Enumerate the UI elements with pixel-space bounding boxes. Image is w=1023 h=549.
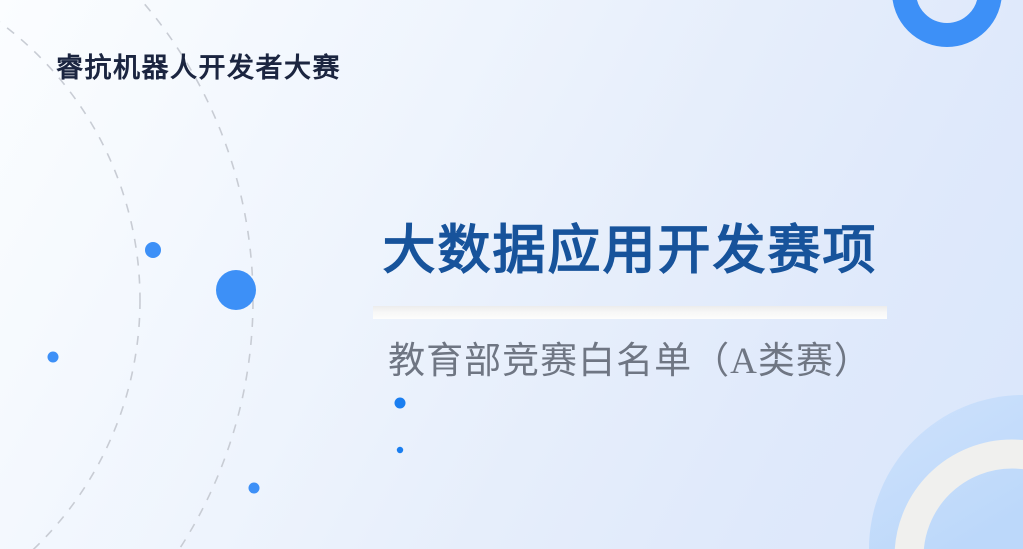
hero-main-title: 大数据应用开发赛项 [373,223,887,280]
accent-dot-arc-bottom [249,483,260,494]
title-divider-bar [373,306,887,319]
accent-dot-bullet-lower [397,447,403,453]
accent-dot-large [216,270,256,310]
accent-dot-arc-left [48,352,59,363]
accent-dot-bullet-upper [395,398,406,409]
top-right-ring [904,0,990,35]
hero-block: 大数据应用开发赛项 教育部竞赛白名单（A类赛） [373,223,887,280]
corner-ring-arc [909,454,1023,549]
accent-dot-small-upper [145,242,161,258]
hero-subtitle: 教育部竞赛白名单（A类赛） [373,330,887,384]
page-title: 睿抗机器人开发者大赛 [56,46,341,85]
corner-panel-shape [869,395,1023,549]
presentation-slide: 睿抗机器人开发者大赛 大数据应用开发赛项 教育部竞赛白名单（A类赛） [0,0,1023,549]
